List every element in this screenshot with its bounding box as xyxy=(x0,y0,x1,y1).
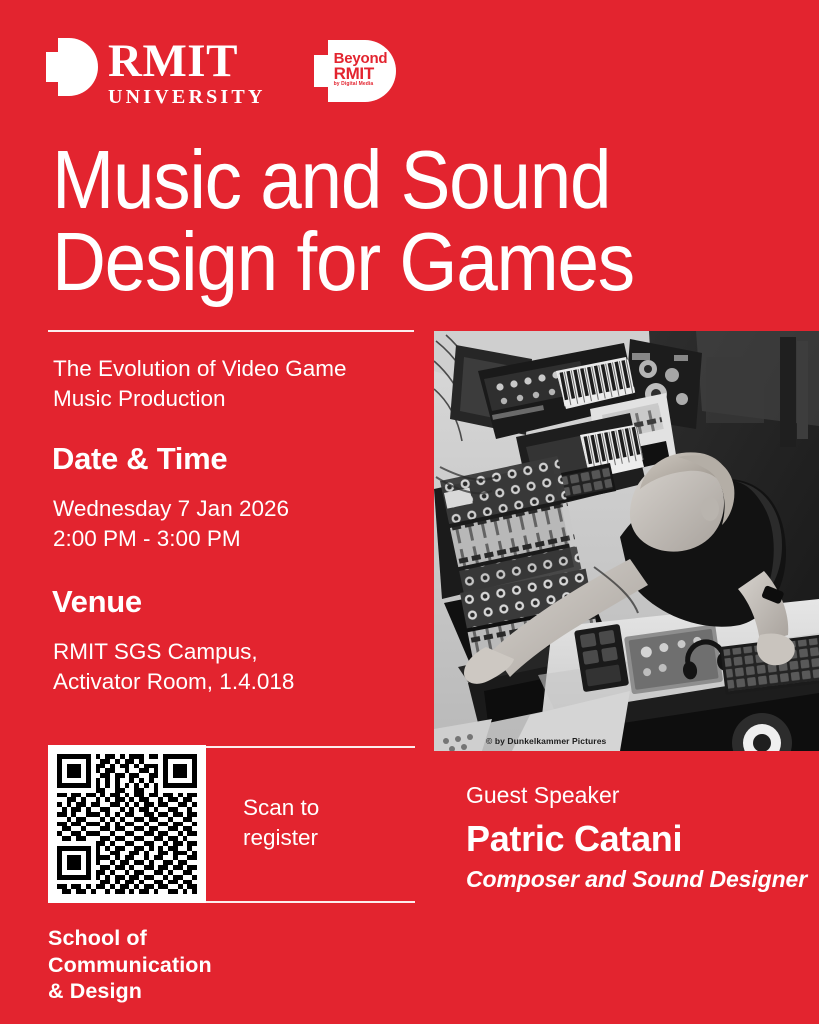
event-subtitle: The Evolution of Video Game Music Produc… xyxy=(53,354,423,413)
logo-row: RMIT UNIVERSITY Beyond RMIT by Digital M… xyxy=(46,38,396,109)
qr-code-icon[interactable] xyxy=(48,745,206,903)
speaker-photo: © by Dunkelkammer Pictures xyxy=(434,331,819,751)
photo-credit: © by Dunkelkammer Pictures xyxy=(486,736,606,746)
venue-body: RMIT SGS Campus, Activator Room, 1.4.018 xyxy=(53,637,433,697)
divider-top xyxy=(48,330,414,332)
date-time-body: Wednesday 7 Jan 2026 2:00 PM - 3:00 PM xyxy=(53,494,433,554)
date-time-heading: Date & Time xyxy=(52,441,227,477)
speaker-title: Composer and Sound Designer xyxy=(466,866,807,893)
beyond-logo-line2: RMIT xyxy=(334,65,396,82)
rmit-wordmark: RMIT UNIVERSITY xyxy=(108,38,266,109)
page-title: Music and Sound Design for Games xyxy=(52,139,682,303)
event-poster: RMIT UNIVERSITY Beyond RMIT by Digital M… xyxy=(0,0,819,1024)
beyond-rmit-logo-text: Beyond RMIT by Digital Media xyxy=(334,51,396,87)
scan-to-register-label: Scan to register xyxy=(243,793,413,853)
guest-speaker-label: Guest Speaker xyxy=(466,782,619,810)
rmit-university-logo: RMIT UNIVERSITY xyxy=(46,38,266,109)
divider-qr-bottom xyxy=(205,901,415,903)
rmit-university-text: UNIVERSITY xyxy=(108,86,266,109)
beyond-rmit-logo: Beyond RMIT by Digital Media xyxy=(314,40,396,102)
speaker-name: Patric Catani xyxy=(466,818,682,860)
beyond-logo-line3: by Digital Media xyxy=(334,82,396,87)
venue-heading: Venue xyxy=(52,584,142,620)
qr-code-matrix xyxy=(57,754,197,894)
school-name: School of Communication & Design xyxy=(48,925,212,1005)
rmit-mark-icon xyxy=(46,38,98,96)
divider-qr-top xyxy=(205,746,415,748)
rmit-wordmark-text: RMIT xyxy=(108,39,266,85)
